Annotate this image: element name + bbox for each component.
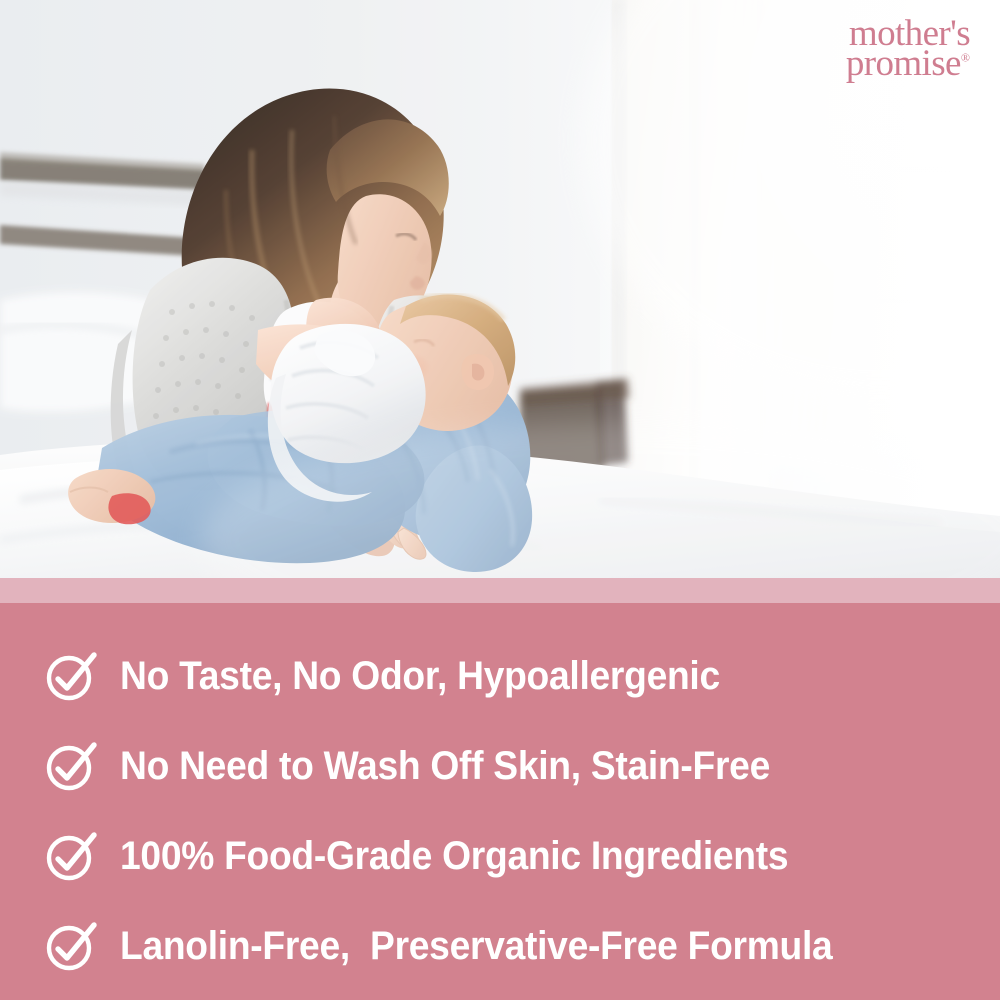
lifestyle-photo <box>0 0 1000 578</box>
brand-logo[interactable]: mother's promise® <box>846 18 970 80</box>
benefit-row: 100% Food-Grade Organic Ingredients <box>44 811 1000 901</box>
check-circle-icon <box>44 740 96 792</box>
benefit-label: No Taste, No Odor, Hypoallergenic <box>120 654 720 699</box>
benefit-label: Lanolin-Free, Preservative-Free Formula <box>120 924 832 969</box>
benefit-row: No Need to Wash Off Skin, Stain-Free <box>44 721 1000 811</box>
check-circle-icon <box>44 650 96 702</box>
product-listing-image: mother's promise® No Taste, No Odor, Hyp… <box>0 0 1000 1000</box>
check-circle-icon <box>44 920 96 972</box>
check-circle-icon <box>44 830 96 882</box>
benefit-label: No Need to Wash Off Skin, Stain-Free <box>120 744 770 789</box>
registered-trademark-icon: ® <box>961 50 970 64</box>
benefit-row: Lanolin-Free, Preservative-Free Formula <box>44 901 1000 991</box>
benefit-row: No Taste, No Odor, Hypoallergenic <box>44 631 1000 721</box>
benefit-label: 100% Food-Grade Organic Ingredients <box>120 834 788 879</box>
logo-line-2: promise® <box>846 48 970 81</box>
light-pink-divider-band <box>0 578 1000 603</box>
benefits-list: No Taste, No Odor, Hypoallergenic No Nee… <box>0 603 1000 1000</box>
photo-illustration <box>0 0 1000 578</box>
